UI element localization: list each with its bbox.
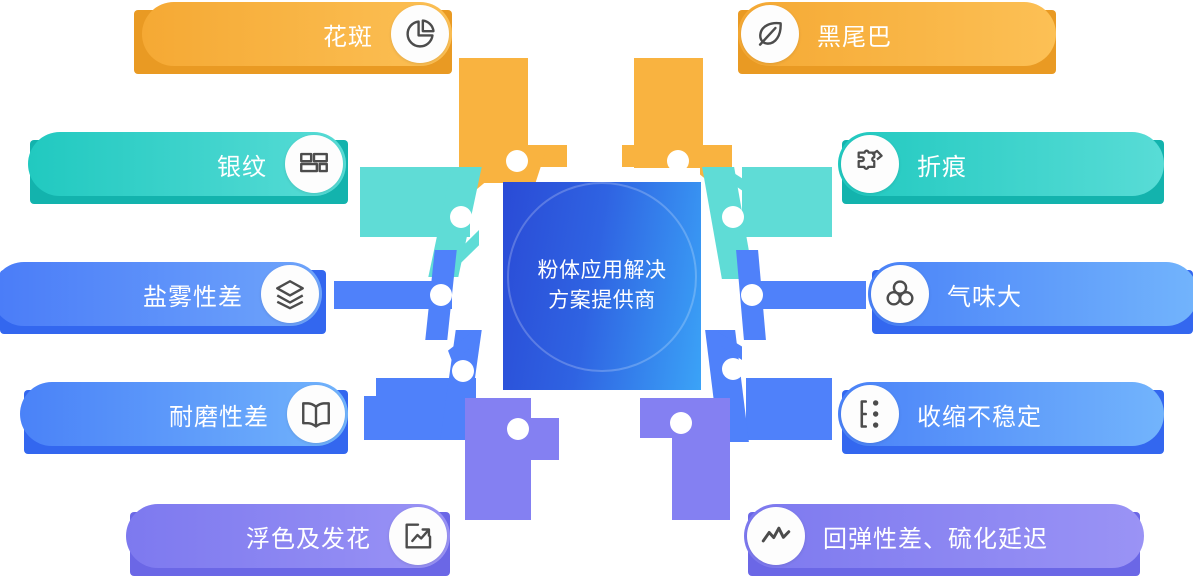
node-label: 花斑 [323,17,373,52]
node-label: 银纹 [217,147,267,182]
node-yan-wu-xing-cha[interactable]: 盐雾性差 [0,262,322,326]
node-zhe-hen[interactable]: 折痕 [838,132,1164,196]
node-label: 黑尾巴 [817,17,892,52]
node-label: 回弹性差、硫化延迟 [823,519,1048,554]
trending-up-icon [389,507,447,565]
node-label: 气味大 [947,277,1022,312]
node-yin-wen[interactable]: 银纹 [28,132,346,196]
infographic-canvas: 粉体应用解决 方案提供商 花斑 黑尾巴 银纹 [0,0,1193,577]
pie-chart-icon [391,5,449,63]
node-label: 耐磨性差 [169,397,269,432]
node-shou-suo-bu-wen-ding[interactable]: 收缩不稳定 [838,382,1164,446]
connector-dot [452,360,474,382]
connector-dot [722,206,744,228]
layers-icon [261,265,319,323]
connector-dot [722,358,744,380]
center-label-line2: 方案提供商 [548,286,656,316]
connector-dot [450,206,472,228]
hierarchy-icon [841,385,899,443]
leaf-icon [741,5,799,63]
line-chart-icon [747,507,805,565]
connector-dot [741,284,763,306]
node-hua-ban[interactable]: 花斑 [142,2,452,66]
connector-dot [667,150,689,172]
node-label: 折痕 [917,147,967,182]
node-fu-se-ji-fa-hua[interactable]: 浮色及发花 [126,504,450,568]
node-label: 盐雾性差 [143,277,243,312]
recycle-icon [871,265,929,323]
node-label: 浮色及发花 [246,519,371,554]
node-nai-mo-xing-cha[interactable]: 耐磨性差 [20,382,348,446]
node-label: 收缩不稳定 [917,397,1042,432]
connector-dot [670,412,692,434]
brick-wall-icon [285,135,343,193]
node-hui-tan-xing-cha[interactable]: 回弹性差、硫化延迟 [744,504,1144,568]
center-node: 粉体应用解决 方案提供商 [503,182,701,390]
connector-dot [506,150,528,172]
node-qi-wei-da[interactable]: 气味大 [868,262,1193,326]
connector-dot [430,284,452,306]
book-icon [287,385,345,443]
connector-dot [507,418,529,440]
node-hei-wei-ba[interactable]: 黑尾巴 [738,2,1056,66]
center-label: 粉体应用解决 方案提供商 [503,182,701,390]
puzzle-icon [841,135,899,193]
center-label-line1: 粉体应用解决 [538,256,667,286]
